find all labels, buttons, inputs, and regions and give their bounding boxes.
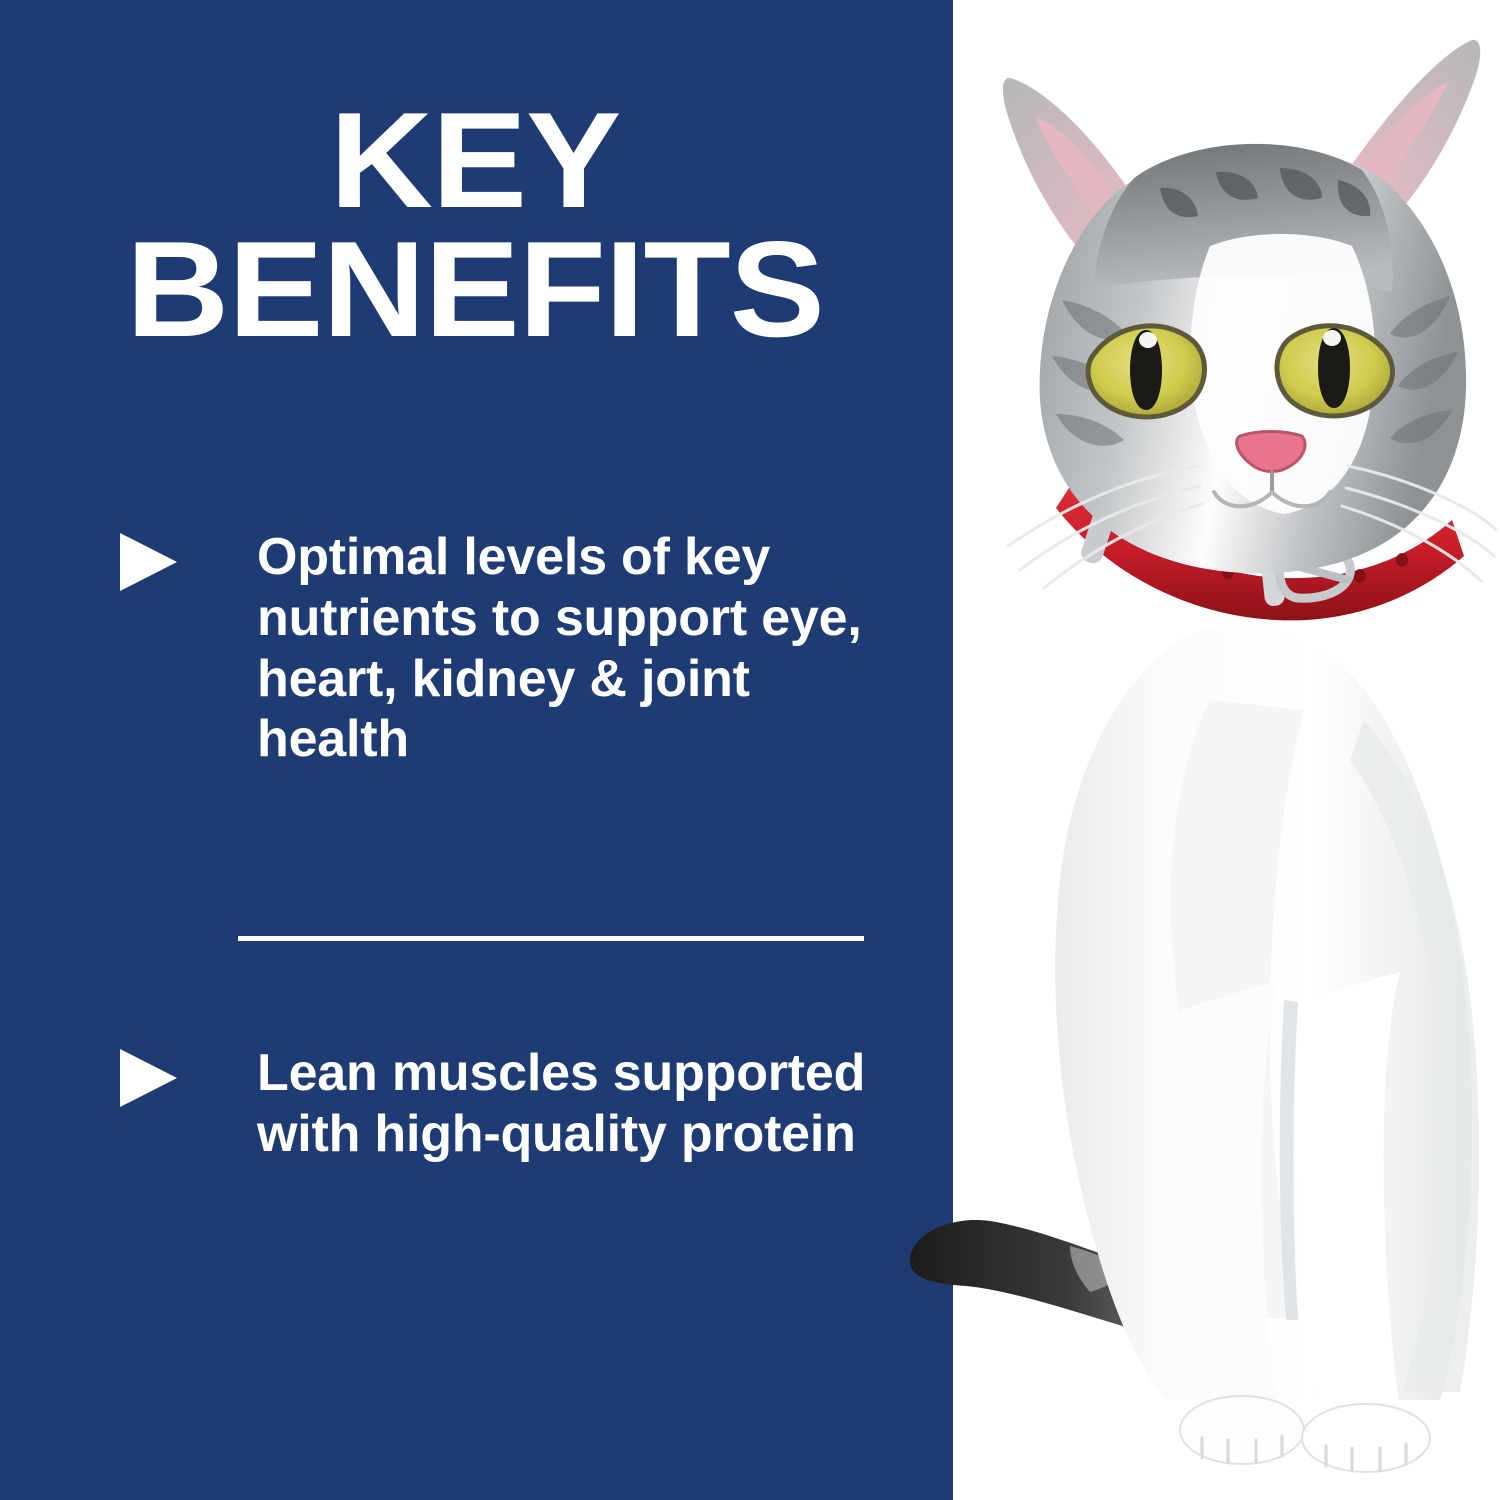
cat-body [1055,624,1479,1420]
benefit-item-2: Lean muscles supported with high-quality… [120,1043,910,1165]
benefit-item-1: Optimal levels of key nutrients to suppo… [120,527,910,770]
benefit-item-2-text: Lean muscles supported with high-quality… [257,1043,910,1165]
promo-banner: KEY BENEFITS Optimal levels of key nutri… [0,0,1500,1500]
triangle-right-icon [120,1049,177,1107]
cat-illustration [880,0,1500,1500]
page-title: KEY BENEFITS [18,96,932,354]
triangle-right-icon [120,533,177,591]
cat-paws [1180,1396,1430,1472]
cat-photo [880,0,1500,1500]
cat-head [1003,40,1496,588]
page-title-line-2: BENEFITS [18,225,932,354]
page-title-line-1: KEY [18,96,932,225]
benefit-divider [238,936,864,941]
benefit-item-1-text: Optimal levels of key nutrients to suppo… [257,527,910,770]
